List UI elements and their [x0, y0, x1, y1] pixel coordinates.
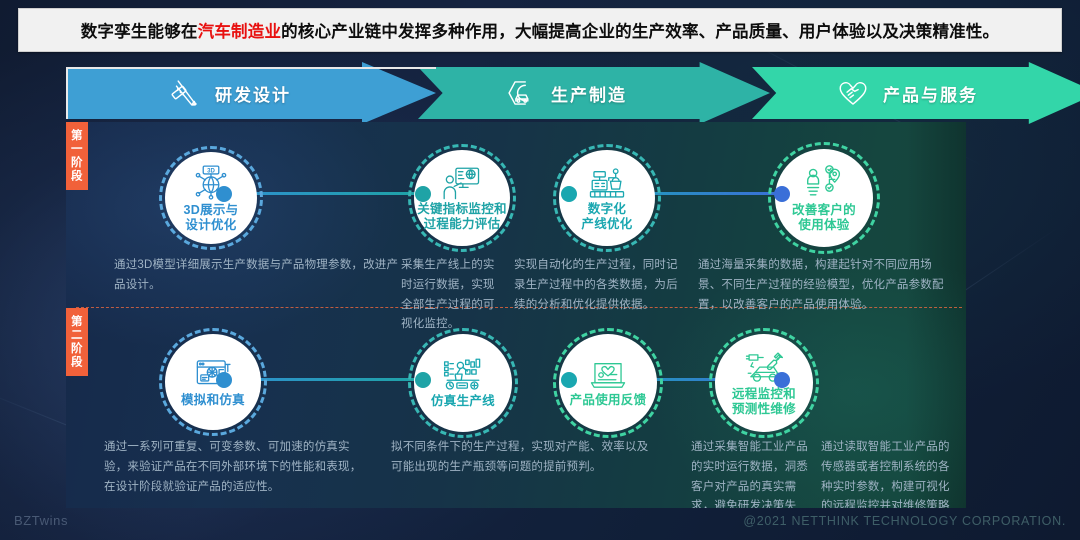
slide-canvas: 数字孪生能够在汽车制造业的核心产业链中发挥多种作用，大幅提高企业的生产效率、产品…	[0, 0, 1080, 540]
headline-text: 数字孪生能够在汽车制造业的核心产业链中发挥多种作用，大幅提高企业的生产效率、产品…	[81, 18, 1000, 42]
handshake-heart-icon	[836, 76, 870, 110]
drafting-compass-ruler-icon	[168, 76, 202, 110]
stage-two-row: 模拟和仿真 通过一系列可重复、可变参数、可加速的仿真实验，来验证产品在不同外部环…	[66, 314, 966, 504]
node-title: 关键指标监控和 过程能力评估	[417, 202, 507, 232]
person-monitor-analytics-icon	[442, 165, 482, 201]
connector-dot-7	[561, 372, 577, 388]
content-panel: 第一阶段 第二阶段 3D	[66, 122, 966, 508]
node-title: 模拟和仿真	[181, 393, 245, 408]
node-desc-digital-line: 实现自动化的生产过程，同时记录生产过程中的各类数据，为后续的分析和优化提供依据。	[514, 256, 689, 315]
footer-copyright: @2021 NETTHINK TECHNOLOGY CORPORATION.	[743, 514, 1066, 528]
connector-dot-6	[415, 372, 431, 388]
headline-banner: 数字孪生能够在汽车制造业的核心产业链中发挥多种作用，大幅提高企业的生产效率、产品…	[18, 8, 1062, 52]
node-desc-product-feedback: 通过采集智能工业产品的实时运行数据，洞悉客户对产品的真实需求，避免研发决策失误。	[691, 438, 813, 508]
phase-label-rd: 研发设计	[215, 81, 291, 106]
user-location-flow-icon	[804, 164, 844, 202]
connector-dot-8	[774, 372, 790, 388]
headline-highlight: 汽车制造业	[198, 23, 282, 41]
node-bubble[interactable]: 改善客户的 使用体验	[775, 149, 873, 247]
node-bubble[interactable]: 远程监控和 预测性维修	[715, 334, 813, 432]
phase-arrow-rd[interactable]: 研发设计	[66, 62, 436, 124]
phase-label-manufacturing: 生产制造	[551, 81, 627, 106]
node-title: 远程监控和 预测性维修	[732, 387, 796, 417]
node-title: 数字化 产线优化	[581, 202, 632, 232]
headline-before: 数字孪生能够在	[81, 23, 198, 41]
node-title: 产品使用反馈	[570, 393, 647, 408]
stage-tab-two: 第二阶段	[66, 308, 88, 376]
node-title: 3D展示与 设计优化	[184, 203, 239, 233]
node-bubble[interactable]: 3D 3D展示与 设计优化	[165, 152, 257, 244]
connector-dot-1	[216, 186, 232, 202]
stage-one-row: 3D 3D展示与 设计优化 通过3D模型详细展示生产数据与产品物理参数，改进产品…	[66, 128, 966, 306]
node-desc-kpi-monitor: 采集生产线上的实时运行数据，实现全部生产过程的可视化监控。	[401, 256, 501, 335]
node-desc-remote-maintenance: 通过读取智能工业产品的传感器或者控制系统的各种实时参数，构建可视化的远程监控并对…	[821, 438, 956, 508]
connector-dot-3	[561, 186, 577, 202]
node-desc-3d-display: 通过3D模型详细展示生产数据与产品物理参数，改进产品设计。	[114, 256, 406, 296]
car-in-hexagon-icon	[504, 76, 538, 110]
connector-dot-2	[415, 186, 431, 202]
node-desc-customer-experience: 通过海量采集的数据，构建起针对不同应用场景、不同生产过程的经验模型，优化产品参数…	[698, 256, 948, 315]
phase-arrow-service[interactable]: 产品与服务	[752, 62, 1080, 124]
node-title: 仿真生产线	[431, 394, 495, 409]
headline-after: 的核心产业链中发挥多种作用，大幅提高企业的生产效率、产品质量、用户体验以及决策精…	[281, 23, 999, 41]
phase-arrow-manufacturing[interactable]: 生产制造	[418, 62, 770, 124]
laptop-heart-feedback-icon	[588, 358, 628, 392]
node-desc-simulation: 通过一系列可重复、可变参数、可加速的仿真实验，来验证产品在不同外部环境下的性能和…	[104, 438, 366, 497]
stage-tab-one: 第一阶段	[66, 122, 88, 190]
node-title: 改善客户的 使用体验	[792, 203, 856, 233]
footer-brand: BZTwins	[14, 513, 68, 528]
ribbon-top-accent	[66, 67, 436, 69]
phase-label-service: 产品与服务	[883, 81, 978, 106]
node-bubble[interactable]: 模拟和仿真	[165, 334, 261, 430]
factory-conveyor-icon	[587, 165, 627, 201]
connector-dot-4	[774, 186, 790, 202]
connector-dot-5	[216, 372, 232, 388]
phase-ribbon: 研发设计 生产制造	[66, 62, 1026, 124]
robot-arm-production-icon	[442, 357, 484, 393]
node-desc-simulated-line: 拟不同条件下的生产过程，实现对产能、效率以及可能出现的生产瓶颈等问题的提前预判。	[391, 438, 651, 478]
